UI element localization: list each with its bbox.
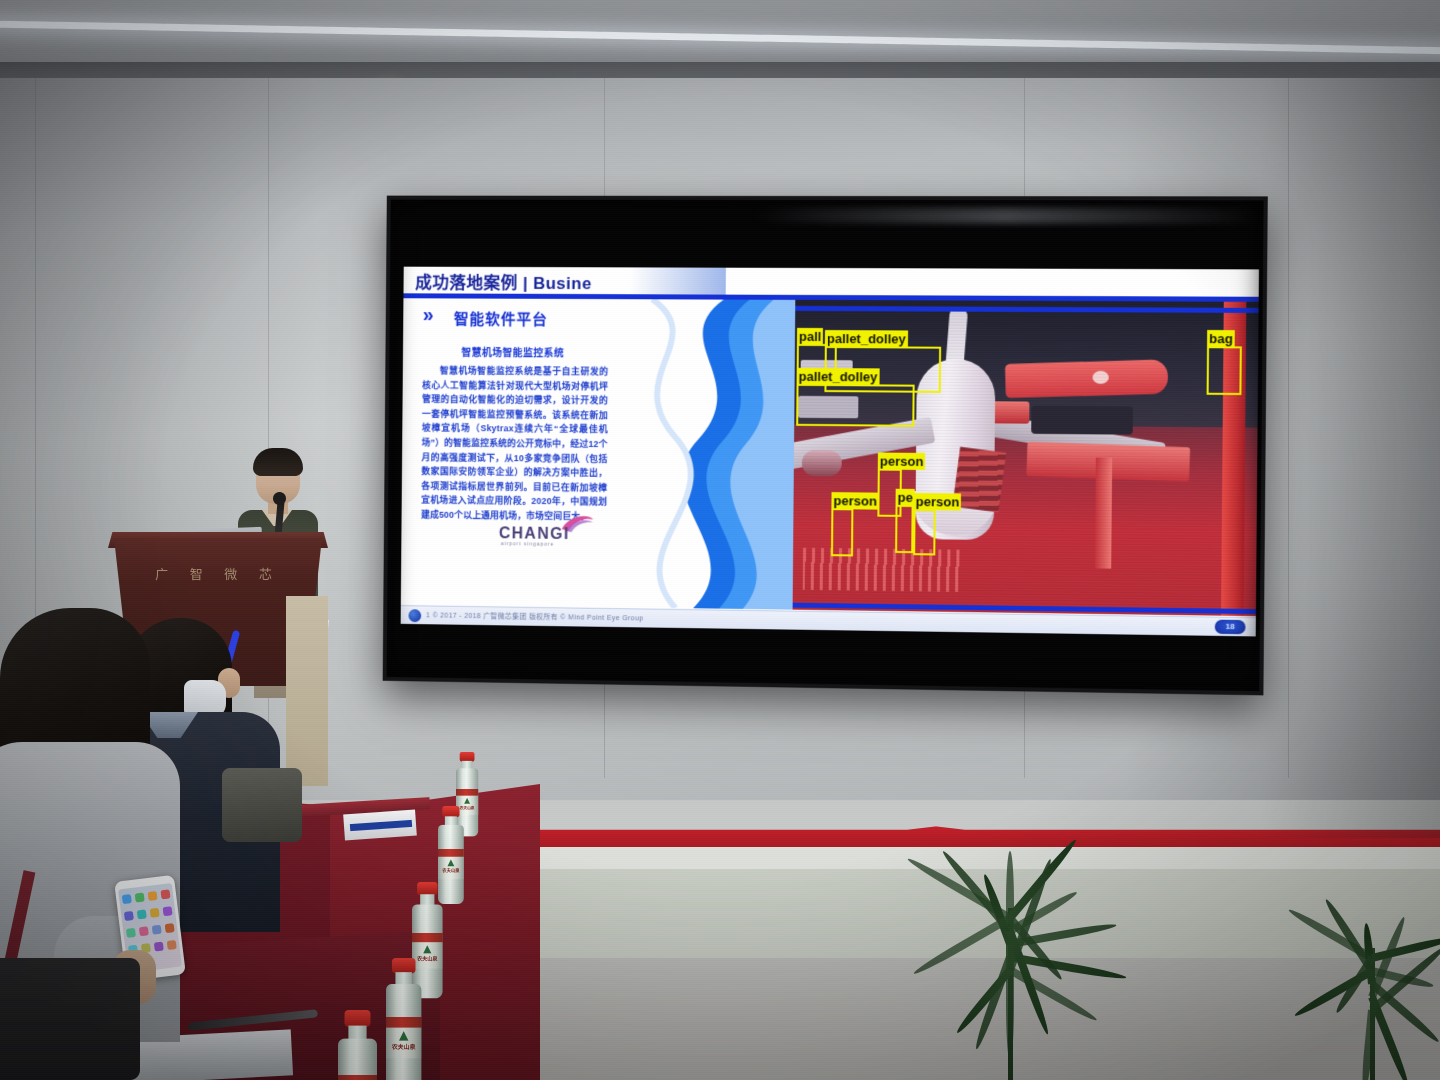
- slide-footer-text: 1 © 2017 - 2018 广智微芯集团 版权所有 © Mind Point…: [426, 610, 643, 623]
- potted-palm-plant: [900, 868, 1160, 1080]
- conference-room-photo: 成功落地案例 | Busine » 智能: [0, 0, 1440, 1080]
- palm-frond: [912, 915, 1012, 977]
- microphone-head-icon: [273, 492, 286, 505]
- detection-label-pe: pe: [896, 489, 915, 506]
- blue-wave-graphic: [602, 299, 799, 610]
- detection-label-person: person: [831, 492, 879, 510]
- app-icon: [161, 889, 171, 899]
- detection-box-bag: [1207, 346, 1242, 395]
- title-fade-overlay: [631, 267, 726, 294]
- nongfu-mountain-icon: [464, 798, 470, 804]
- app-icon: [139, 926, 149, 936]
- slide-page-badge: 18: [1215, 620, 1246, 635]
- bottle-label-red-band: [438, 849, 464, 857]
- detection-label-person: person: [878, 453, 926, 470]
- app-icon: [122, 894, 132, 904]
- app-icon: [124, 911, 134, 921]
- screen-glare: [751, 207, 1263, 224]
- detection-label-pallet_dolley: pallet_dolley: [825, 330, 908, 347]
- changi-tagline: airport singapore: [501, 541, 554, 548]
- laptop-bag: [222, 768, 302, 842]
- bottle-brand-text: 农夫山泉: [412, 955, 443, 962]
- right-edge-shading: [1260, 78, 1440, 838]
- detection-box-person: [831, 508, 853, 556]
- app-icon: [154, 942, 164, 952]
- detection-label-bag: bag: [1207, 330, 1235, 347]
- display-panel: 成功落地案例 | Busine » 智能: [387, 200, 1264, 692]
- nongfu-mountain-icon: [423, 945, 431, 953]
- bottle-label-red-band: [338, 1075, 377, 1080]
- detection-label-pallet_dolley: pallet_dolley: [797, 368, 880, 386]
- chevron-double-right-icon: »: [423, 304, 431, 327]
- potted-palm-plant: [1262, 908, 1440, 1080]
- app-icon: [137, 909, 147, 919]
- app-icon: [148, 891, 158, 901]
- bottle-cap: [345, 1010, 371, 1027]
- cctv-apron-photo: pallpallet_dolleypallet_dolleybagpersonp…: [793, 300, 1259, 616]
- presenter-glasses: [260, 472, 296, 482]
- bottle-cap: [392, 958, 416, 973]
- bottle-body: [338, 1039, 377, 1080]
- app-icon: [152, 925, 162, 935]
- palm-frond: [1293, 968, 1374, 1019]
- powerpoint-slide: 成功落地案例 | Busine » 智能: [401, 267, 1259, 637]
- chair-back: [0, 958, 140, 1080]
- detection-label-person: person: [914, 493, 962, 511]
- nongfu-mountain-icon: [447, 859, 454, 866]
- app-icon: [165, 923, 175, 933]
- bottle-label-red-band: [456, 789, 478, 796]
- app-icon: [126, 928, 136, 938]
- bottle-brand-text: 农夫山泉: [386, 1043, 421, 1051]
- slide-body-paragraph: 智慧机场智能监控系统是基于自主研发的核心人工智能算法针对现代大型机场对停机坪管理…: [421, 363, 608, 524]
- detection-box-pallet_dolley: [796, 384, 914, 427]
- slide-section-heading: 智能软件平台: [454, 308, 548, 329]
- detection-label-pall: pall: [797, 328, 823, 345]
- bottle-label-red-band: [386, 1017, 421, 1028]
- app-icon: [135, 893, 145, 903]
- standing-person-legs: [286, 596, 328, 786]
- slide-title: 成功落地案例 | Busine: [415, 269, 592, 294]
- slide-page-number: 18: [1215, 622, 1246, 632]
- podium-brand-text: 广 智 微 芯: [114, 564, 322, 583]
- slide-sub-heading: 智慧机场智能监控系统: [461, 344, 564, 359]
- app-icon: [150, 908, 160, 918]
- detection-box-pe: [895, 505, 913, 553]
- mpe-circle-logo-icon: [408, 609, 421, 622]
- bottle-label-red-band: [412, 933, 443, 942]
- changi-airport-logo: CHANGI airport singapore: [499, 512, 594, 549]
- slide-title-bar: 成功落地案例 | Busine: [403, 267, 1258, 297]
- detection-box-person: [913, 509, 936, 555]
- slide-body-text: 智慧机场智能监控系统是基于自主研发的核心人工智能算法针对现代大型机场对停机坪管理…: [421, 363, 608, 524]
- nongfu-mountain-icon: [399, 1031, 408, 1040]
- app-icon: [167, 940, 177, 950]
- presentation-display[interactable]: 成功落地案例 | Busine » 智能: [383, 196, 1268, 696]
- app-icon: [163, 906, 173, 916]
- bottle-brand-text: 农夫山泉: [438, 868, 464, 874]
